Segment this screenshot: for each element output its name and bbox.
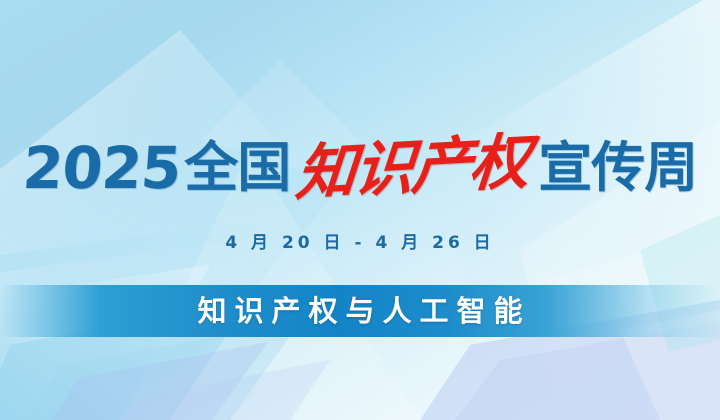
banner-headline: 2025 全国 知识产权 宣传周 — [0, 128, 720, 208]
ip-week-promo-banner: 2025 全国 知识产权 宣传周 4 月 20 日 - 4 月 26 日 知识产… — [0, 0, 720, 420]
headline-highlight: 知识产权 — [294, 132, 531, 205]
headline-suffix: 宣传周 — [538, 141, 697, 195]
background-decoration — [0, 0, 720, 420]
theme-bar: 知识产权与人工智能 — [0, 285, 720, 337]
headline-nationwide: 全国 — [184, 141, 290, 195]
theme-text: 知识产权与人工智能 — [189, 297, 530, 326]
event-date-range: 4 月 20 日 - 4 月 26 日 — [0, 228, 720, 253]
headline-year: 2025 — [21, 139, 182, 197]
